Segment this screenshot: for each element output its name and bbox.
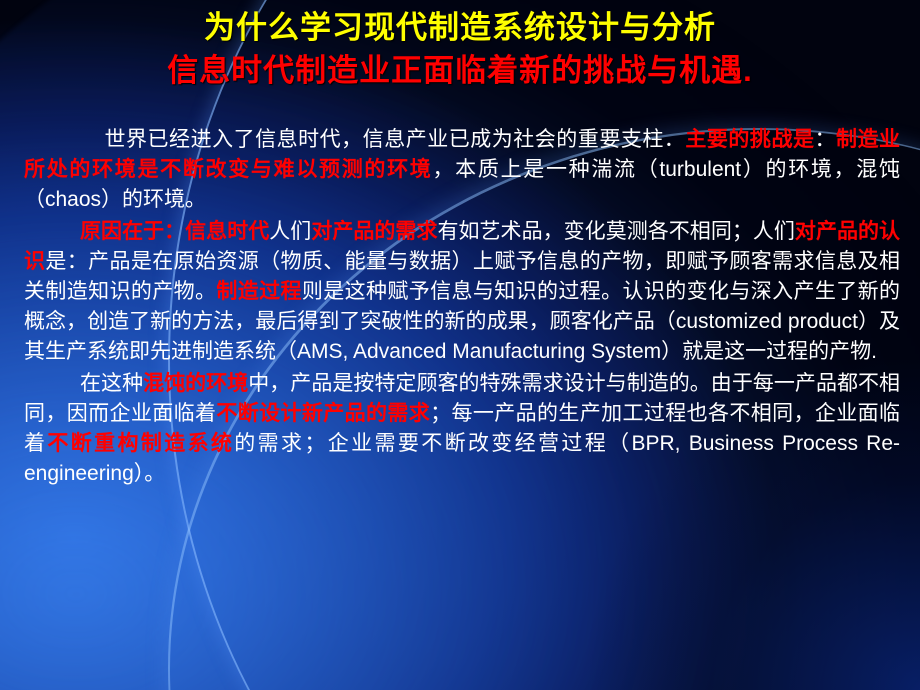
text-run: 不断重构制造系统 (47, 432, 234, 455)
title-line-2: 信息时代制造业正面临着新的挑战与机遇. (0, 53, 920, 90)
text-run: 人们 (269, 220, 311, 243)
text-run: 在这种 (80, 372, 143, 395)
text-run: 信息时代 (185, 220, 269, 243)
text-run: 原因在于： (80, 220, 185, 243)
text-run: 主要的挑战是 (685, 128, 814, 151)
text-run: ： (814, 128, 836, 151)
text-run: 混饨的环境 (143, 372, 248, 395)
paragraph-3: 在这种混饨的环境中，产品是按特定顾客的特殊需求设计与制造的。由于每一产品都不相同… (24, 369, 900, 489)
text-run: 制造过程 (216, 280, 302, 303)
text-run: 不断设计新产品的需求 (216, 402, 430, 425)
text-run: 对产品的需求 (311, 220, 437, 243)
text-run: 有如艺术品，变化莫测各不相同；人们 (437, 220, 794, 243)
title-line-1: 为什么学习现代制造系统设计与分析 (0, 10, 920, 47)
paragraph-1: 世界已经进入了信息时代，信息产业已成为社会的重要支柱．主要的挑战是：制造业所处的… (24, 125, 900, 215)
text-run: 世界已经进入了信息时代，信息产业已成为社会的重要支柱． (104, 128, 685, 151)
paragraph-2: 原因在于：信息时代人们对产品的需求有如艺术品，变化莫测各不相同；人们对产品的认识… (24, 217, 900, 367)
slide-canvas: 为什么学习现代制造系统设计与分析 信息时代制造业正面临着新的挑战与机遇. 世界已… (0, 0, 920, 690)
slide-title: 为什么学习现代制造系统设计与分析 信息时代制造业正面临着新的挑战与机遇. (0, 10, 920, 89)
slide-body: 世界已经进入了信息时代，信息产业已成为社会的重要支柱．主要的挑战是：制造业所处的… (24, 125, 900, 491)
